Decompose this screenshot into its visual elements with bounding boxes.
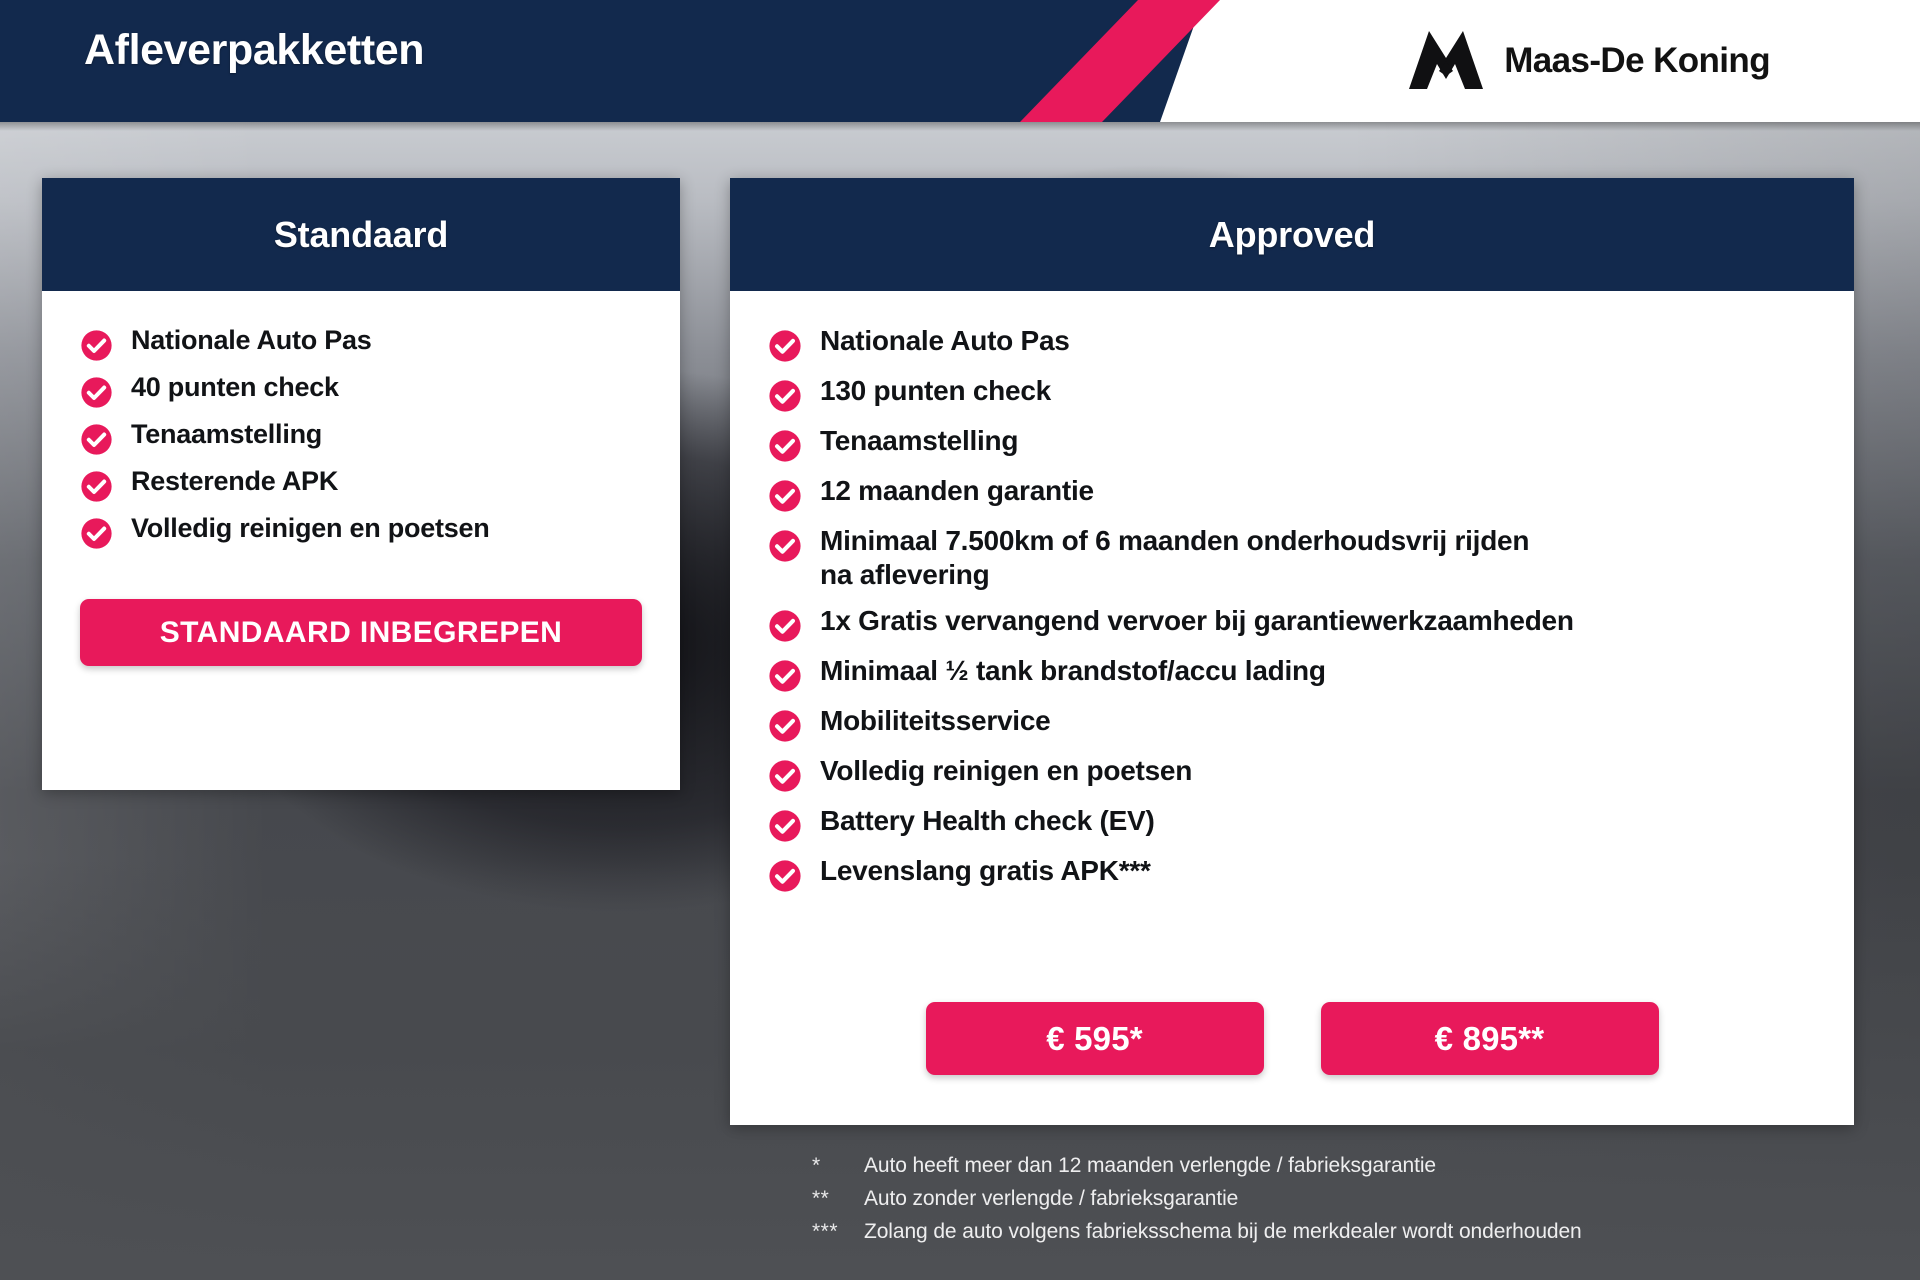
feature-label: Minimaal ½ tank brandstof/accu lading (820, 654, 1326, 688)
price-button-row: € 595* € 895** (730, 1002, 1854, 1075)
card-title-standaard: Standaard (274, 214, 448, 256)
list-item: Minimaal 7.500km of 6 maanden onderhouds… (768, 524, 1568, 593)
check-circle-icon (80, 470, 113, 503)
feature-list-standaard: Nationale Auto Pas 40 punten check Tenaa… (80, 324, 680, 550)
check-circle-icon (768, 709, 802, 743)
check-circle-icon (768, 859, 802, 893)
footnote-text: Auto zonder verlengde / fabrieksgarantie (864, 1187, 1238, 1211)
check-circle-icon (80, 329, 113, 362)
check-circle-icon (768, 379, 802, 413)
list-item: Resterende APK (80, 465, 680, 503)
list-item: 40 punten check (80, 371, 680, 409)
footnote-row: *** Zolang de auto volgens fabrieksschem… (812, 1220, 1582, 1244)
price-button-895[interactable]: € 895** (1321, 1002, 1659, 1075)
feature-label: Battery Health check (EV) (820, 804, 1155, 838)
feature-list-approved: Nationale Auto Pas 130 punten check Tena… (768, 324, 1854, 893)
check-circle-icon (80, 376, 113, 409)
check-circle-icon (768, 429, 802, 463)
feature-label: Tenaamstelling (820, 424, 1018, 458)
feature-label: Mobiliteitsservice (820, 704, 1050, 738)
slide-root: Afleverpakketten Maas-De Koning Standaar… (0, 0, 1920, 1280)
check-circle-icon (768, 659, 802, 693)
check-circle-icon (768, 809, 802, 843)
price-button-595[interactable]: € 595* (926, 1002, 1264, 1075)
feature-label: 1x Gratis vervangend vervoer bij garanti… (820, 604, 1574, 638)
list-item: 1x Gratis vervangend vervoer bij garanti… (768, 604, 1854, 643)
list-item: Volledig reinigen en poetsen (768, 754, 1854, 793)
list-item: Tenaamstelling (768, 424, 1854, 463)
list-item: Nationale Auto Pas (768, 324, 1854, 363)
check-circle-icon (768, 329, 802, 363)
list-item: Volledig reinigen en poetsen (80, 512, 680, 550)
list-item: Minimaal ½ tank brandstof/accu lading (768, 654, 1854, 693)
check-circle-icon (768, 759, 802, 793)
feature-label: Volledig reinigen en poetsen (131, 512, 490, 545)
footnote-marker: * (812, 1154, 864, 1178)
footnote-text: Zolang de auto volgens fabrieksschema bi… (864, 1220, 1582, 1244)
feature-label: Nationale Auto Pas (820, 324, 1070, 358)
feature-label: Tenaamstelling (131, 418, 322, 451)
standaard-included-button[interactable]: STANDAARD INBEGREPEN (80, 599, 642, 666)
feature-label: 130 punten check (820, 374, 1051, 408)
check-circle-icon (80, 517, 113, 550)
card-header-standaard: Standaard (42, 178, 680, 291)
list-item: Battery Health check (EV) (768, 804, 1854, 843)
footnote-marker: ** (812, 1187, 864, 1211)
check-circle-icon (768, 529, 802, 563)
footnote-row: ** Auto zonder verlengde / fabrieksgaran… (812, 1187, 1582, 1211)
list-item: Tenaamstelling (80, 418, 680, 456)
feature-label: Resterende APK (131, 465, 338, 498)
page-header: Afleverpakketten Maas-De Koning (0, 0, 1920, 122)
feature-label: Volledig reinigen en poetsen (820, 754, 1192, 788)
brand-lockup: Maas-De Koning (1409, 0, 1770, 122)
footnotes-block: * Auto heeft meer dan 12 maanden verleng… (812, 1154, 1582, 1253)
footnote-text: Auto heeft meer dan 12 maanden verlengde… (864, 1154, 1436, 1178)
list-item: Nationale Auto Pas (80, 324, 680, 362)
footnote-marker: *** (812, 1220, 864, 1244)
page-title: Afleverpakketten (84, 26, 424, 75)
check-circle-icon (768, 479, 802, 513)
feature-label: 40 punten check (131, 371, 339, 404)
feature-label: 12 maanden garantie (820, 474, 1094, 508)
list-item: Mobiliteitsservice (768, 704, 1854, 743)
feature-label: Levenslang gratis APK*** (820, 854, 1151, 888)
check-circle-icon (80, 423, 113, 456)
list-item: Levenslang gratis APK*** (768, 854, 1854, 893)
maas-de-koning-logo-icon (1409, 31, 1483, 91)
check-circle-icon (768, 609, 802, 643)
package-card-standaard: Standaard Nationale Auto Pas 40 punten c… (42, 178, 680, 790)
card-header-approved: Approved (730, 178, 1854, 291)
feature-label: Nationale Auto Pas (131, 324, 372, 357)
header-dropshadow (0, 122, 1920, 131)
list-item: 12 maanden garantie (768, 474, 1854, 513)
list-item: 130 punten check (768, 374, 1854, 413)
footnote-row: * Auto heeft meer dan 12 maanden verleng… (812, 1154, 1582, 1178)
package-card-approved: Approved Nationale Auto Pas 130 punten c… (730, 178, 1854, 1125)
feature-label: Minimaal 7.500km of 6 maanden onderhouds… (820, 524, 1568, 593)
card-title-approved: Approved (1209, 214, 1375, 256)
brand-name: Maas-De Koning (1504, 41, 1770, 81)
